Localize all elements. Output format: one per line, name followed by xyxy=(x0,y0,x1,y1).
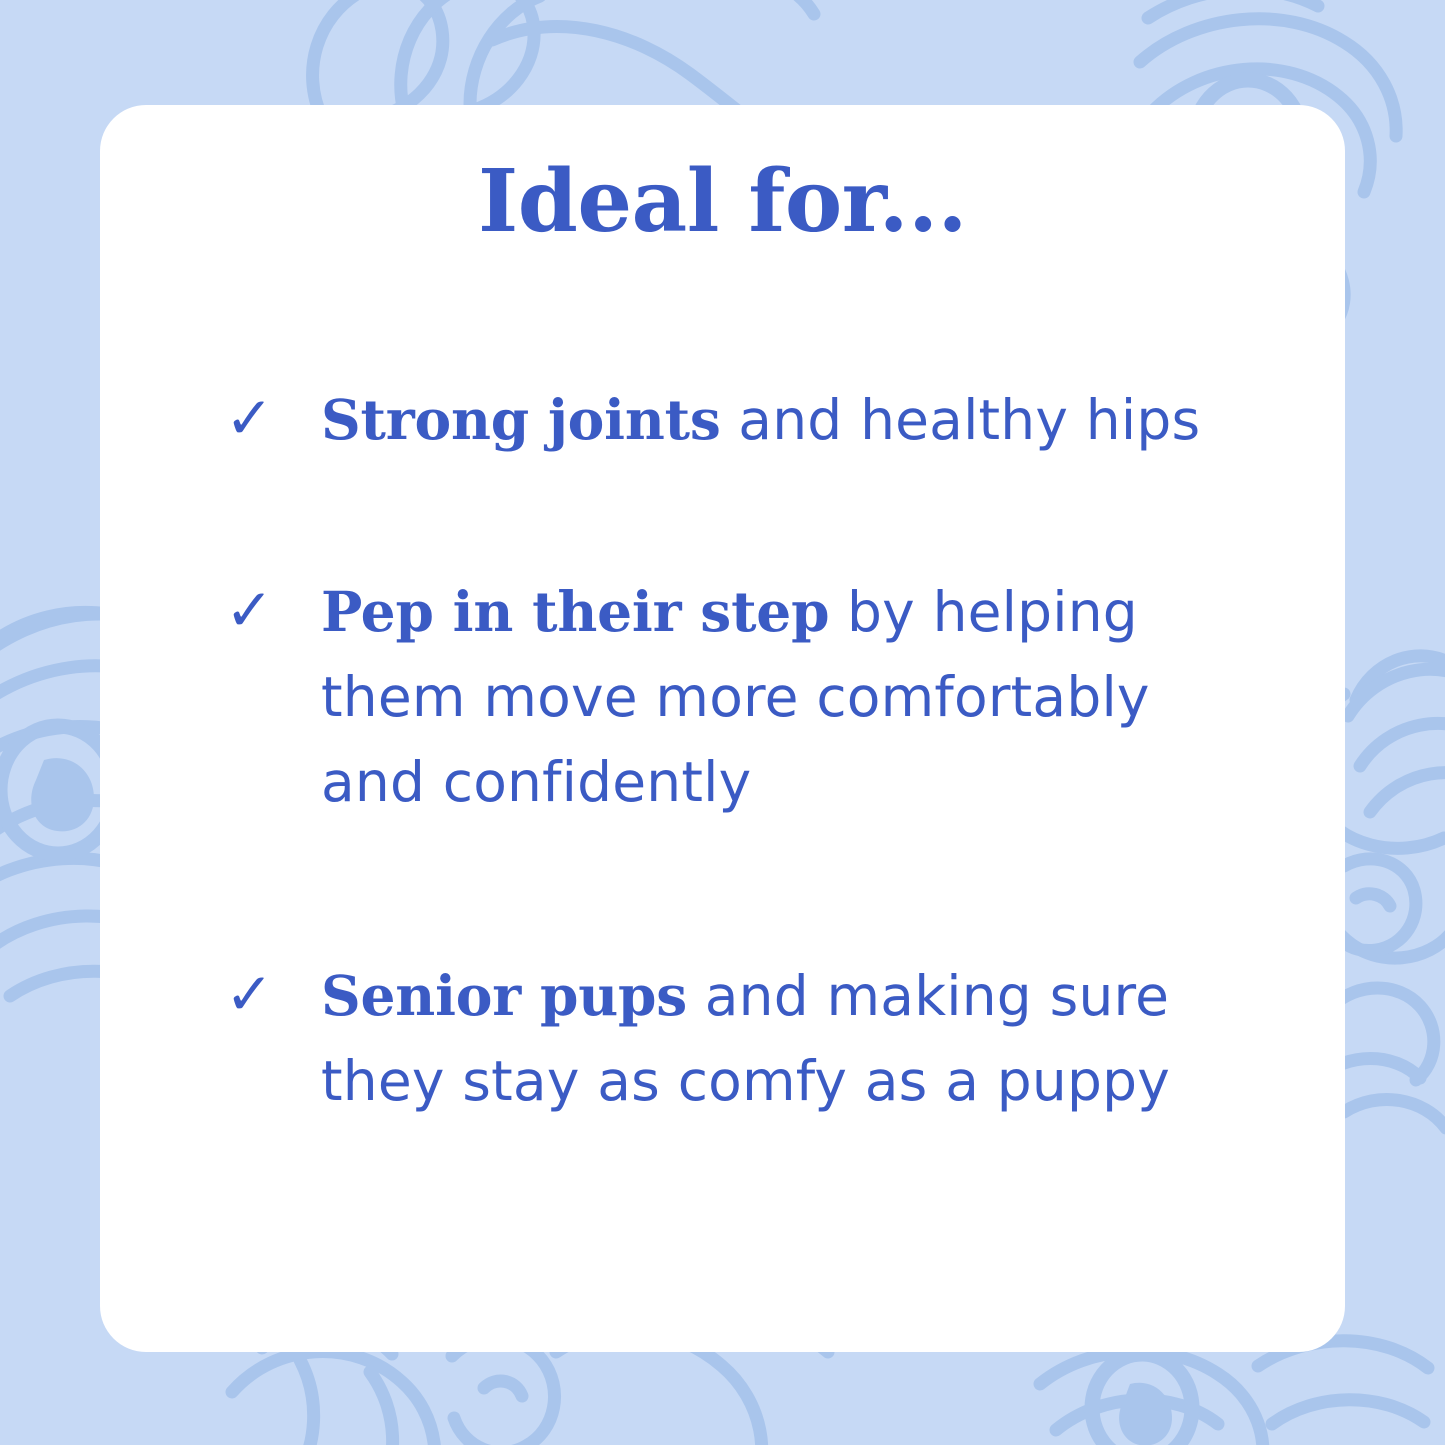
list-item: ✓ Senior pups and making sure they stay … xyxy=(225,953,1285,1124)
list-item-text: Strong joints and healthy hips xyxy=(321,377,1201,463)
list-item-text: Senior pups and making sure they stay as… xyxy=(321,953,1201,1124)
list-item-rest: and healthy hips xyxy=(721,388,1201,452)
content-card: Ideal for... ✓ Strong joints and healthy… xyxy=(100,105,1345,1352)
list-item-lead: Strong joints xyxy=(321,387,721,452)
list-item: ✓ Pep in their step by helping them move… xyxy=(225,569,1285,825)
doodle-accent-top-center xyxy=(700,0,814,14)
page-title: Ideal for... xyxy=(100,157,1345,247)
check-icon: ✓ xyxy=(225,377,321,455)
check-icon: ✓ xyxy=(225,953,321,1031)
check-icon: ✓ xyxy=(225,569,321,647)
list-item-lead: Pep in their step xyxy=(321,579,829,644)
list-item-lead: Senior pups xyxy=(321,963,687,1028)
promo-poster: Ideal for... ✓ Strong joints and healthy… xyxy=(0,0,1445,1445)
list-item: ✓ Strong joints and healthy hips xyxy=(225,377,1285,463)
list-item-text: Pep in their step by helping them move m… xyxy=(321,569,1201,825)
benefits-list: ✓ Strong joints and healthy hips ✓ Pep i… xyxy=(225,377,1285,1124)
